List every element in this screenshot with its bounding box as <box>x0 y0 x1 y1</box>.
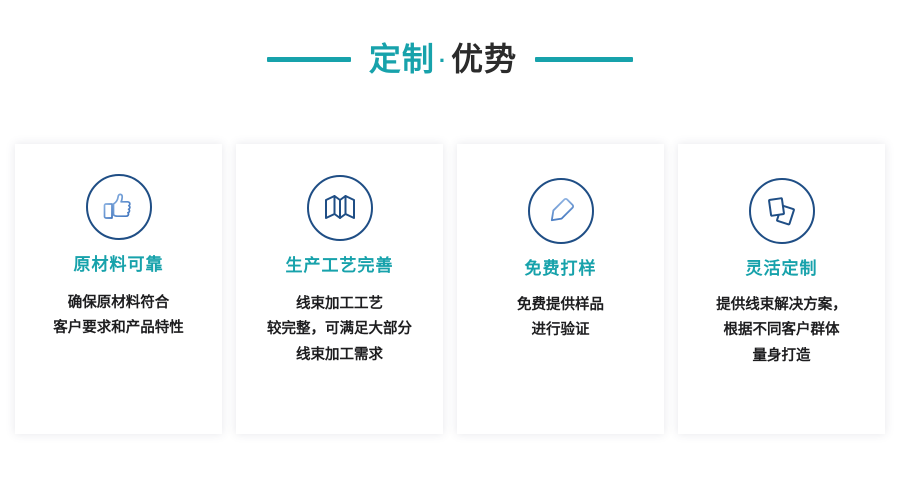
folded-map-icon <box>307 175 373 241</box>
feature-card-body-line: 客户要求和产品特性 <box>53 316 184 341</box>
feature-card-title: 灵活定制 <box>746 260 818 277</box>
feature-card-title: 生产工艺完善 <box>286 257 394 274</box>
page-title-separator: · <box>435 50 451 72</box>
feature-card-body-line: 免费提供样品 <box>517 293 604 318</box>
feature-card-body: 免费提供样品 进行验证 <box>517 293 604 344</box>
feature-card-list: 原材料可靠 确保原材料符合 客户要求和产品特性 生产工艺完善 线束加工工艺 较完… <box>15 144 885 434</box>
heading-rule-right <box>535 57 633 62</box>
section-heading: 定制 · 优势 <box>0 30 900 88</box>
page-title-main: 优势 <box>451 43 517 75</box>
pencil-icon <box>528 178 594 244</box>
feature-card-body-line: 线束加工工艺 <box>267 292 412 317</box>
page-title-accent: 定制 <box>369 43 435 75</box>
feature-card-body: 提供线束解决方案， 根据不同客户群体 量身打造 <box>716 293 847 369</box>
feature-card[interactable]: 免费打样 免费提供样品 进行验证 <box>457 144 664 434</box>
feature-card[interactable]: 灵活定制 提供线束解决方案， 根据不同客户群体 量身打造 <box>678 144 885 434</box>
feature-card-body: 线束加工工艺 较完整，可满足大部分 线束加工需求 <box>267 292 412 368</box>
thumbs-up-icon <box>86 174 152 240</box>
feature-card-body-line: 较完整，可满足大部分 <box>267 317 412 342</box>
feature-card-body-line: 根据不同客户群体 <box>716 318 847 343</box>
feature-card-body-line: 进行验证 <box>517 318 604 343</box>
feature-card[interactable]: 原材料可靠 确保原材料符合 客户要求和产品特性 <box>15 144 222 434</box>
feature-card-body: 确保原材料符合 客户要求和产品特性 <box>53 291 184 342</box>
heading-rule-left <box>267 57 351 62</box>
feature-card-body-line: 量身打造 <box>716 344 847 369</box>
stacked-papers-icon <box>749 178 815 244</box>
feature-card-body-line: 确保原材料符合 <box>53 291 184 316</box>
feature-card-body-line: 提供线束解决方案， <box>716 293 847 318</box>
feature-card-body-line: 线束加工需求 <box>267 343 412 368</box>
feature-card-title: 原材料可靠 <box>74 256 164 273</box>
feature-card[interactable]: 生产工艺完善 线束加工工艺 较完整，可满足大部分 线束加工需求 <box>236 144 443 434</box>
page-title: 定制 · 优势 <box>369 43 517 75</box>
feature-card-title: 免费打样 <box>525 260 597 277</box>
